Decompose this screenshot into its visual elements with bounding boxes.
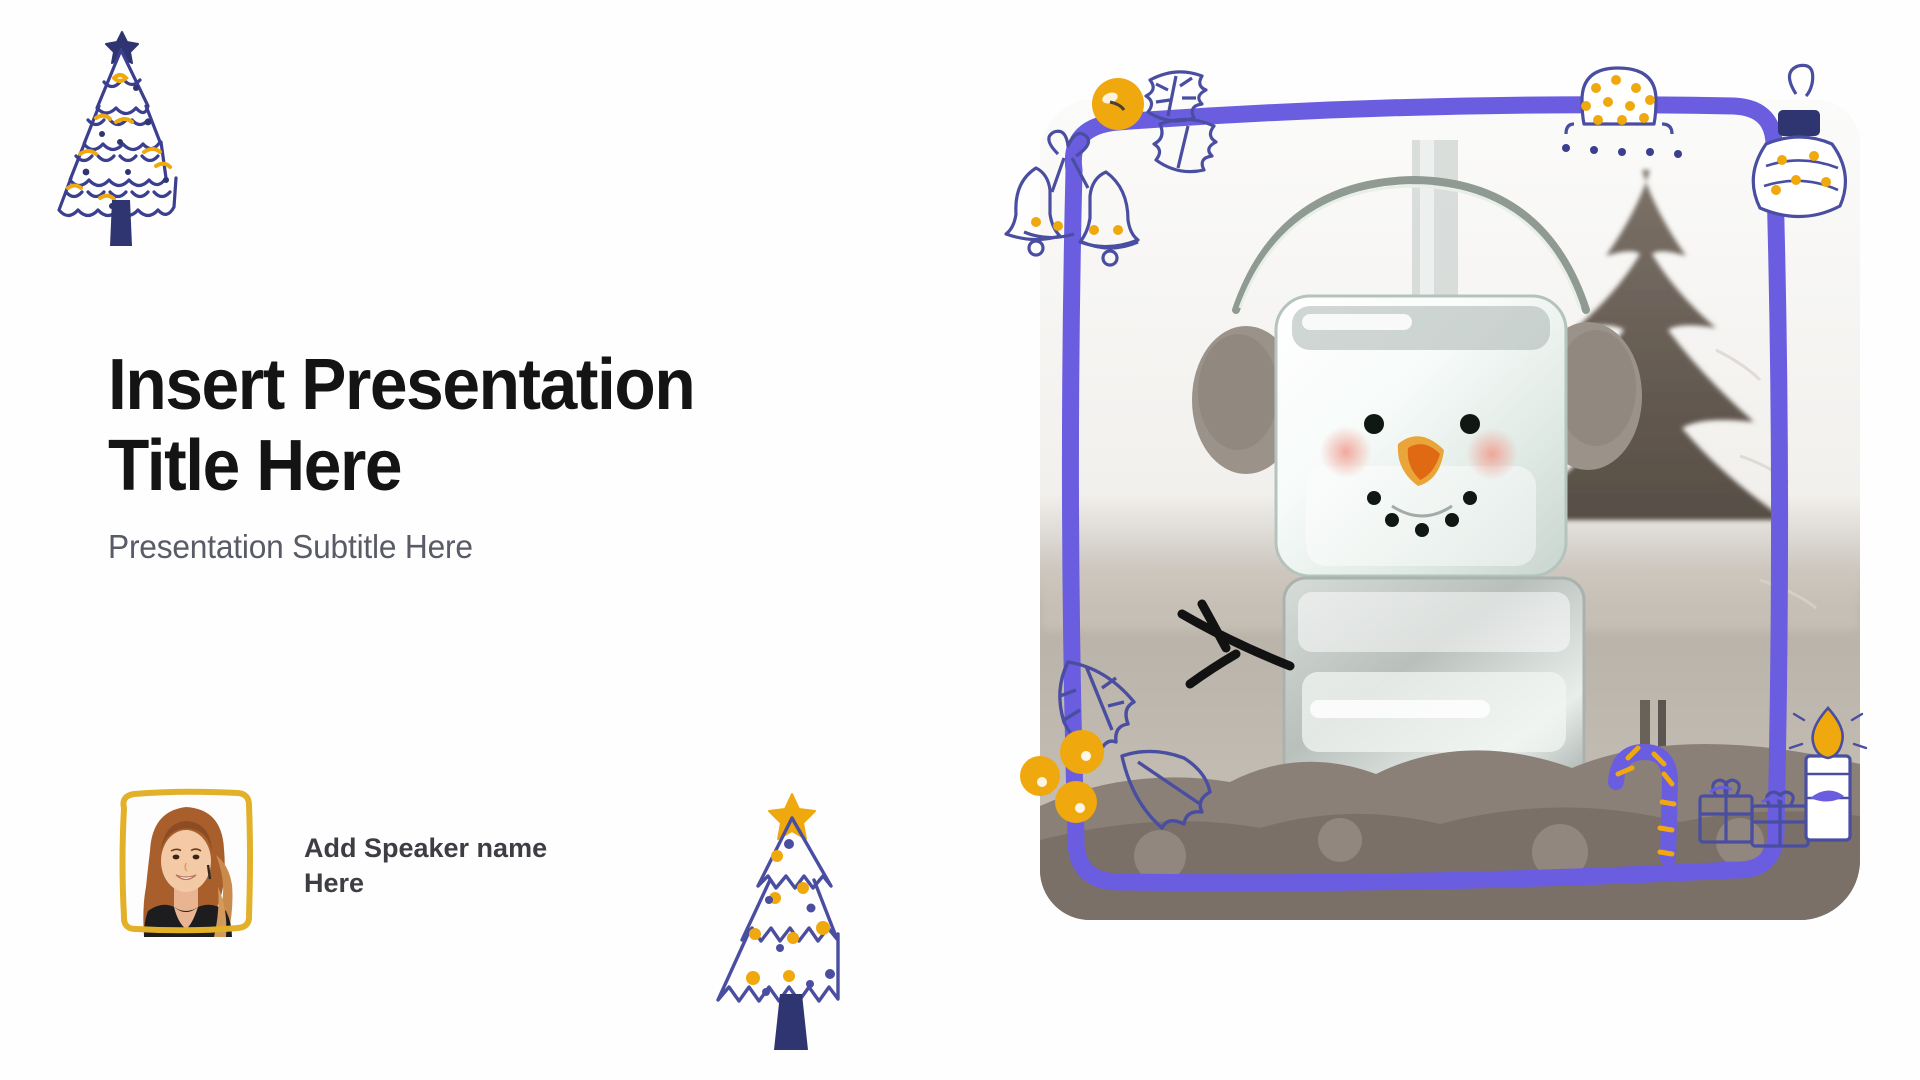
frame-dot-row <box>1562 144 1682 158</box>
presentation-title-slide: Insert Presentation Title Here Presentat… <box>0 0 1920 1080</box>
candy-cane-icon <box>1616 748 1674 858</box>
speaker-block: Add Speaker name Here <box>110 786 604 946</box>
page-subtitle[interactable]: Presentation Subtitle Here <box>108 528 895 566</box>
title-block: Insert Presentation Title Here Presentat… <box>108 345 928 566</box>
candle-icon <box>1790 708 1866 840</box>
speaker-photo-wrap[interactable] <box>110 786 262 946</box>
hero-photo-frame <box>1010 62 1898 962</box>
dotted-dome-ornament-icon <box>1566 68 1672 134</box>
speaker-name-label[interactable]: Add Speaker name Here <box>304 831 604 900</box>
decorative-frame <box>1010 62 1898 962</box>
holly-berries-icon <box>1020 730 1104 823</box>
christmas-tree-icon-top-left <box>24 22 209 262</box>
avatar <box>120 795 252 937</box>
christmas-tree-icon-bottom <box>692 788 892 1058</box>
gold-ball-ornament-icon <box>1092 78 1144 130</box>
page-title[interactable]: Insert Presentation Title Here <box>108 345 879 506</box>
